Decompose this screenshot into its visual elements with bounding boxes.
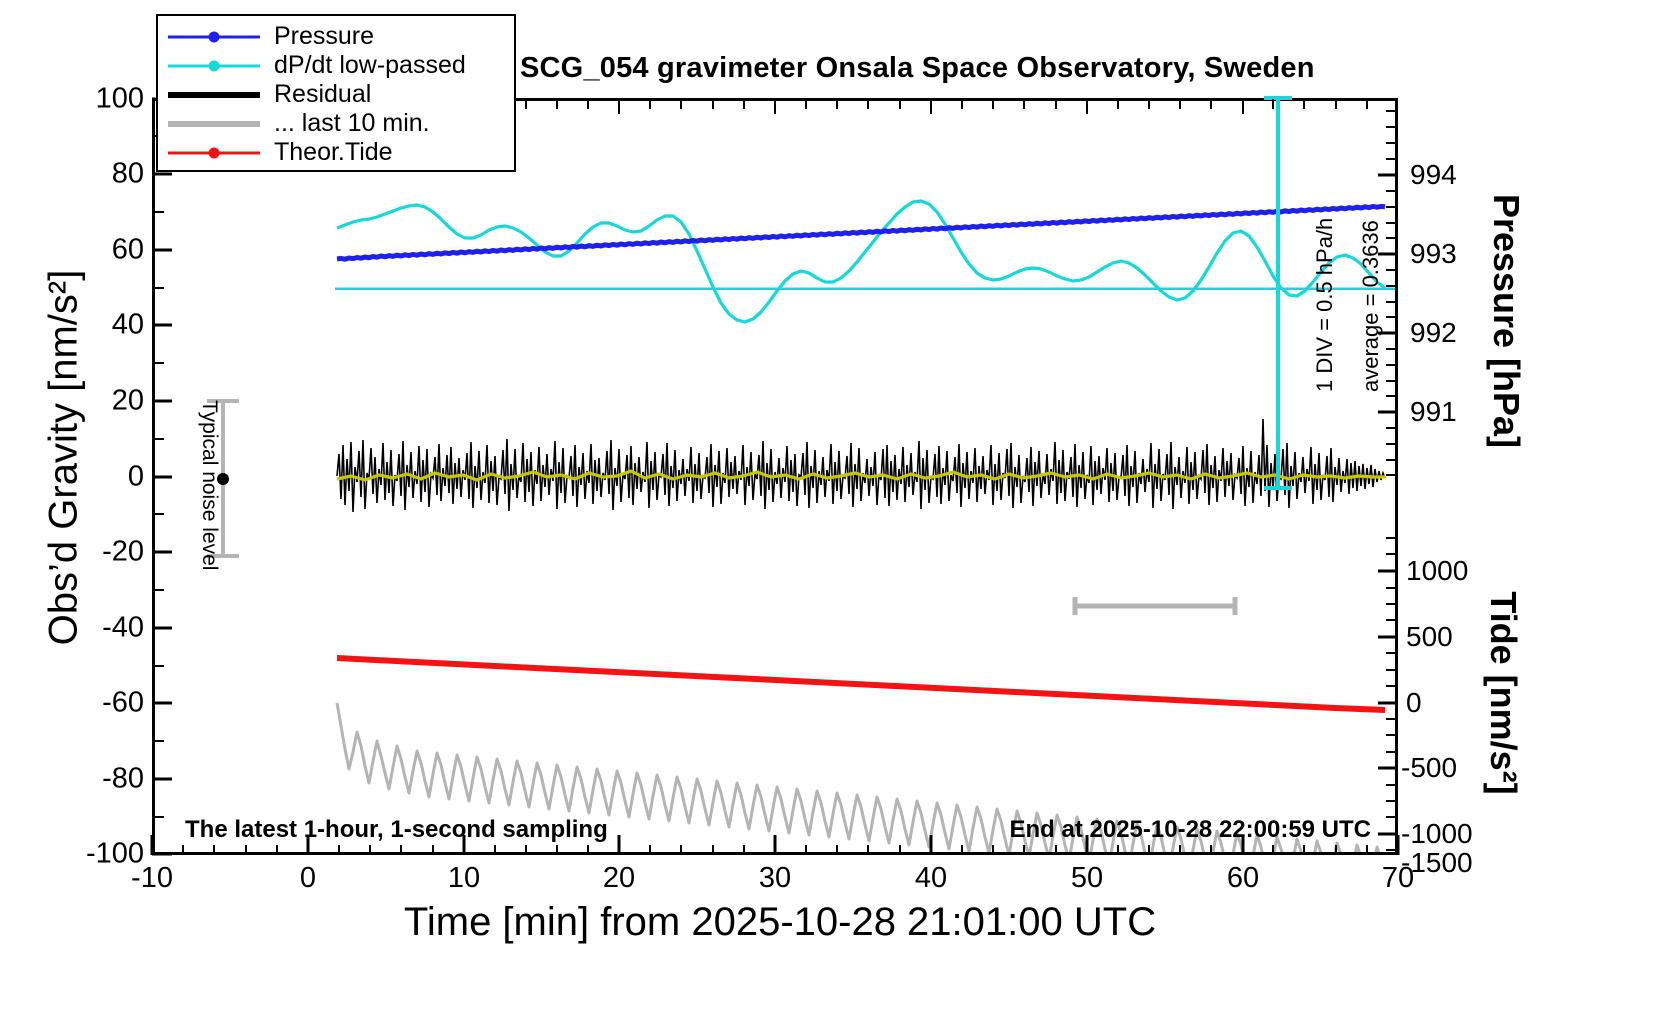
xtick: -10	[92, 862, 212, 895]
legend-swatch-pressure	[168, 27, 260, 47]
ytick-tide: 0	[1406, 687, 1422, 719]
gravimeter-plot-page: SCG_054 gravimeter Onsala Space Observat…	[0, 0, 1660, 1020]
x-axis-label: Time [min] from 2025-10-28 21:01:00 UTC	[160, 900, 1400, 945]
xtick: 40	[871, 862, 991, 895]
legend-label-residual: Residual	[260, 80, 371, 109]
ytick-pressure: 993	[1410, 238, 1457, 270]
ytick-left: 80	[24, 158, 144, 191]
ytick-pressure: 992	[1410, 317, 1457, 349]
ytick-tide: -1000	[1401, 818, 1473, 850]
legend-swatch-residual	[168, 85, 260, 105]
legend-label-dpdt: dP/dt low-passed	[260, 51, 466, 80]
legend-item[interactable]: Pressure	[158, 22, 514, 51]
average-note: average = 0.3636	[1358, 220, 1384, 392]
legend-label-pressure: Pressure	[260, 22, 374, 51]
legend-item[interactable]: Residual	[158, 80, 514, 109]
ytick-left: -80	[24, 763, 144, 796]
xtick: 20	[559, 862, 679, 895]
legend-label-tide: Theor.Tide	[260, 138, 393, 167]
y-axis-label-tide: Tide [nm/s²]	[1482, 528, 1524, 858]
legend-item[interactable]: dP/dt low-passed	[158, 51, 514, 80]
page-title: SCG_054 gravimeter Onsala Space Observat…	[520, 52, 1315, 85]
legend-swatch-dpdt	[168, 56, 260, 76]
xtick: 0	[248, 862, 368, 895]
sampling-note: The latest 1-hour, 1-second sampling	[185, 816, 608, 844]
series-pressure	[337, 206, 1385, 259]
series-theor-tide	[337, 658, 1385, 710]
legend-item[interactable]: Theor.Tide	[158, 138, 514, 167]
div-scale-note: 1 DIV = 0.5 hPa/h	[1312, 218, 1338, 392]
ytick-tide: 1000	[1406, 555, 1468, 587]
ytick-tide: 500	[1406, 621, 1453, 653]
xtick: 60	[1183, 862, 1303, 895]
ytick-left: 100	[24, 83, 144, 116]
xtick: 30	[715, 862, 835, 895]
xtick: 10	[404, 862, 524, 895]
end-time-note: End at 2025-10-28 22:00:59 UTC	[1010, 816, 1372, 844]
dpdt-scale-bar	[1258, 90, 1298, 510]
series-dpdt-lowpassed	[337, 201, 1385, 322]
legend-item[interactable]: ... last 10 min.	[158, 109, 514, 138]
plot-canvas	[155, 101, 1395, 852]
y-axis-label-left: Obs’d Gravity [nm/s²]	[42, 198, 87, 718]
typical-noise-level-label: Typical noise level	[197, 400, 221, 580]
xtick: 50	[1027, 862, 1147, 895]
ytick-pressure: 991	[1410, 396, 1457, 428]
y-axis-label-pressure: Pressure [hPa]	[1485, 131, 1527, 511]
xtick: 70	[1338, 862, 1458, 895]
legend-swatch-tide	[168, 143, 260, 163]
ytick-pressure: 994	[1410, 159, 1457, 191]
ytick-tide: -500	[1401, 752, 1457, 784]
last-10-min-scale-bar	[1075, 597, 1235, 615]
legend-label-last10: ... last 10 min.	[260, 109, 430, 138]
plot-frame: The latest 1-hour, 1-second sampling End…	[152, 98, 1398, 855]
series-residual	[337, 419, 1385, 512]
legend-swatch-last10	[168, 114, 260, 134]
legend: Pressure dP/dt low-passed Residual ... l…	[156, 14, 516, 172]
